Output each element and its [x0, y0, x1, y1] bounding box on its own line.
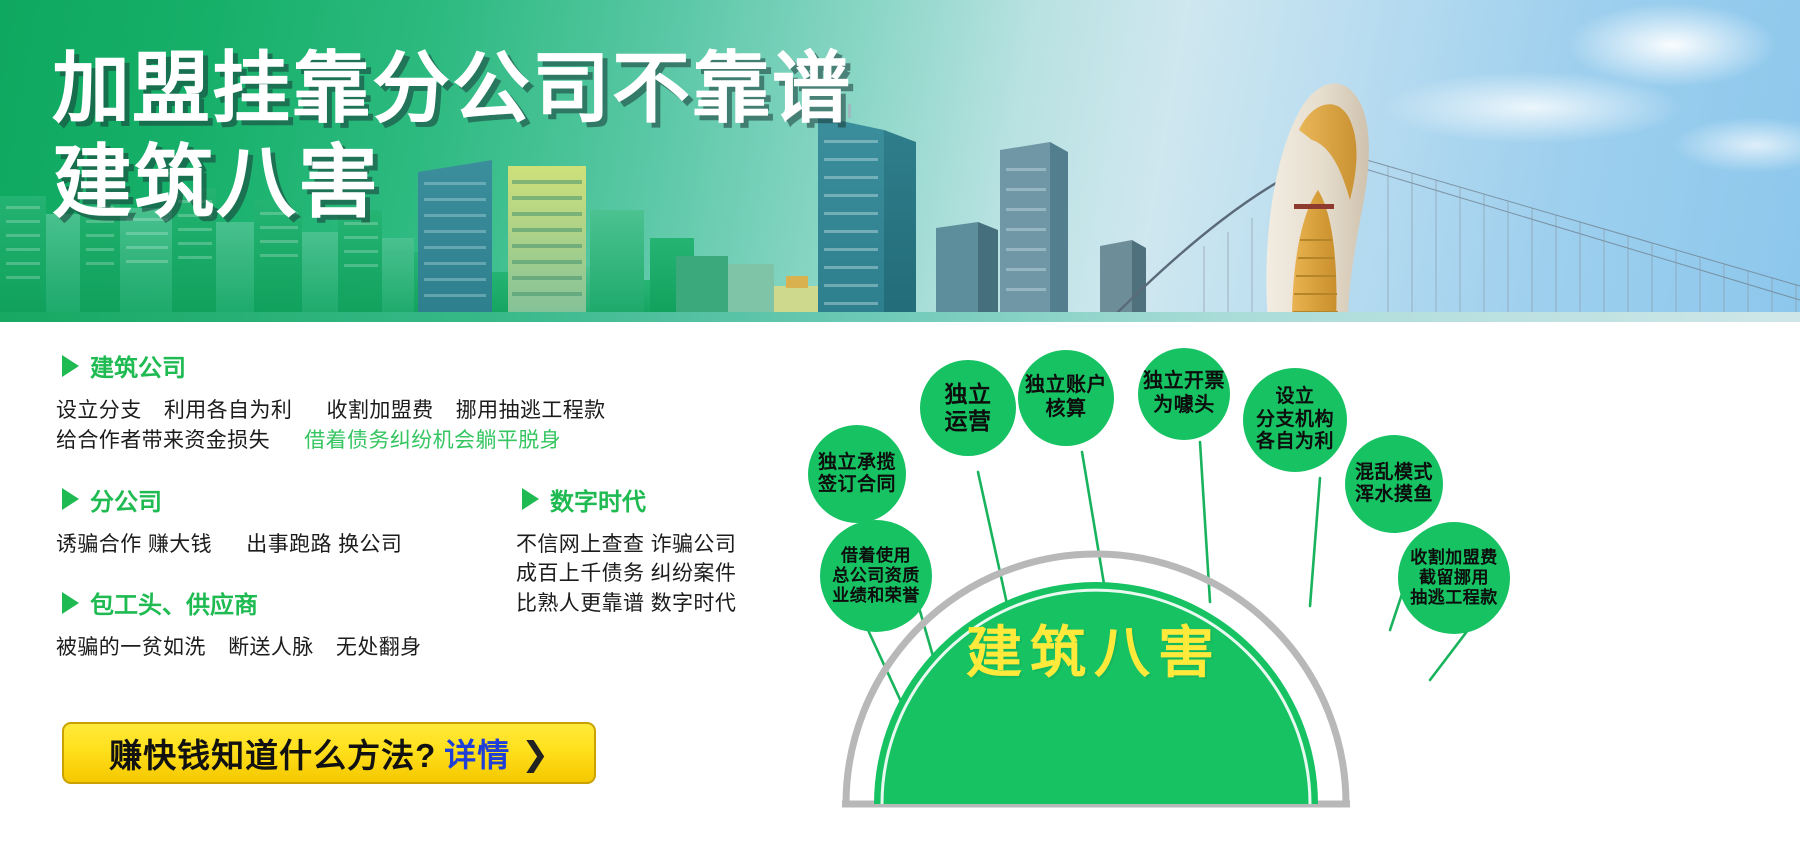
section-title: 分公司	[90, 482, 162, 517]
page-subtitle: 建筑八害	[52, 140, 852, 226]
text-fragment: 被骗的一贫如洗	[56, 636, 206, 659]
bubble-line: 截留挪用	[1419, 568, 1489, 588]
text-row: 比熟人更靠谱 数字时代	[516, 589, 796, 619]
bubble-branch-establishment[interactable]: 设立 分支机构 各自为利	[1243, 368, 1347, 472]
section-heading-construction-company: 建筑公司	[62, 348, 756, 383]
eight-harms-diagram: 建筑八害 借着使用 总公司资质 业绩和荣誉 独立承揽 签订合同 独立 运营 独立…	[790, 330, 1800, 844]
text-fragment: 挪用抽逃工程款	[456, 399, 606, 422]
triangle-bullet-icon	[62, 355, 79, 377]
text-row: 给合作者带来资金损失 借着债务纠纷机会躺平脱身	[56, 426, 756, 456]
cta-detail-link[interactable]: 详情	[444, 730, 510, 776]
text-fragment: 出事跑路 换公司	[246, 533, 402, 556]
section-body-contractor-supplier: 被骗的一贫如洗 断送人脉 无处翻身	[56, 633, 756, 663]
section-title: 数字时代	[550, 482, 646, 517]
section-title: 包工头、供应商	[90, 585, 258, 620]
section-body-digital-age: 不信网上查查 诈骗公司 成百上千债务 纠纷案件 比熟人更靠谱 数字时代	[516, 530, 796, 619]
poster-root: 加盟挂靠分公司不靠谱 建筑八害 建筑公司 设立分支 利用各自为利 收割加盟费 挪…	[0, 0, 1800, 844]
triangle-bullet-icon	[62, 592, 79, 614]
triangle-bullet-icon	[522, 488, 539, 510]
bubble-line: 业绩和荣誉	[832, 586, 920, 606]
text-fragment: 设立分支	[56, 399, 142, 422]
section-body-construction-company: 设立分支 利用各自为利 收割加盟费 挪用抽逃工程款 给合作者带来资金损失 借着债…	[56, 396, 756, 456]
bubble-line: 借着使用	[841, 546, 911, 566]
section-digital-age: 数字时代 不信网上查查 诈骗公司 成百上千债务 纠纷案件 比熟人更靠谱 数字时代	[516, 482, 796, 619]
bubble-line: 独立开票	[1143, 370, 1225, 394]
text-row: 成百上千债务 纠纷案件	[516, 559, 796, 589]
text-fragment: 利用各自为利	[164, 399, 292, 422]
cta-main-label: 赚快钱知道什么方法?	[109, 729, 436, 777]
bubble-line: 分支机构	[1256, 409, 1334, 431]
bubble-line: 独立承揽	[818, 452, 896, 474]
bubble-line: 独立	[945, 381, 992, 408]
text-row: 设立分支 利用各自为利 收割加盟费 挪用抽逃工程款	[56, 396, 756, 426]
bubble-line: 收割加盟费	[1410, 548, 1498, 568]
text-row: 不信网上查查 诈骗公司	[516, 530, 796, 560]
bubble-line: 混乱模式	[1355, 462, 1433, 484]
section-title: 建筑公司	[90, 348, 186, 383]
text-fragment: 断送人脉	[228, 636, 314, 659]
text-fragment: 诱骗合作 赚大钱	[56, 533, 212, 556]
bubble-line: 签订合同	[818, 474, 896, 496]
bubble-franchise-fee-harvest[interactable]: 收割加盟费 截留挪用 抽逃工程款	[1398, 522, 1510, 634]
page-title: 加盟挂靠分公司不靠谱	[52, 46, 852, 130]
bubble-line: 运营	[945, 408, 992, 435]
bubble-line: 抽逃工程款	[1410, 588, 1498, 608]
bubble-line: 为噱头	[1153, 394, 1215, 418]
hero-banner: 加盟挂靠分公司不靠谱 建筑八害	[0, 0, 1800, 322]
dome-center-label: 建筑八害	[966, 608, 1222, 689]
triangle-bullet-icon	[62, 488, 79, 510]
text-row: 被骗的一贫如洗 断送人脉 无处翻身	[56, 633, 756, 663]
text-fragment: 无处翻身	[336, 636, 422, 659]
left-content-column: 建筑公司 设立分支 利用各自为利 收割加盟费 挪用抽逃工程款 给合作者带来资金损…	[56, 348, 756, 667]
bubble-chaotic-model[interactable]: 混乱模式 浑水摸鱼	[1345, 435, 1443, 533]
two-column-band: 分公司 诱骗合作 赚大钱 出事跑路 换公司 数字时代 不信网上查查 诈骗公司 成…	[56, 482, 756, 560]
bubble-independent-operation[interactable]: 独立 运营	[920, 360, 1016, 456]
bubble-line: 独立账户	[1025, 374, 1107, 398]
highlight-text-fragment: 借着债务纠纷机会躺平脱身	[304, 429, 561, 452]
bubble-line: 各自为利	[1256, 431, 1334, 453]
bubble-independent-contracting[interactable]: 独立承揽 签订合同	[808, 425, 906, 523]
bubble-line: 设立	[1275, 386, 1314, 408]
text-fragment: 收割加盟费	[327, 399, 434, 422]
chevron-right-icon: ❯	[521, 734, 549, 773]
bubble-independent-account[interactable]: 独立账户 核算	[1018, 350, 1114, 446]
section-heading-digital-age: 数字时代	[522, 482, 796, 517]
cta-button[interactable]: 赚快钱知道什么方法? 详情 ❯	[62, 722, 596, 784]
text-fragment: 给合作者带来资金损失	[56, 429, 270, 452]
section-construction-company: 建筑公司 设立分支 利用各自为利 收割加盟费 挪用抽逃工程款 给合作者带来资金损…	[56, 348, 756, 456]
bubble-line: 浑水摸鱼	[1355, 484, 1433, 506]
hero-text-block: 加盟挂靠分公司不靠谱 建筑八害	[52, 46, 852, 227]
bubble-independent-invoicing[interactable]: 独立开票 为噱头	[1138, 348, 1230, 440]
bubble-line: 总公司资质	[832, 566, 920, 586]
bubble-borrowed-qualification[interactable]: 借着使用 总公司资质 业绩和荣誉	[820, 520, 932, 632]
bubble-line: 核算	[1046, 398, 1087, 422]
hero-base-strip	[0, 312, 1800, 322]
